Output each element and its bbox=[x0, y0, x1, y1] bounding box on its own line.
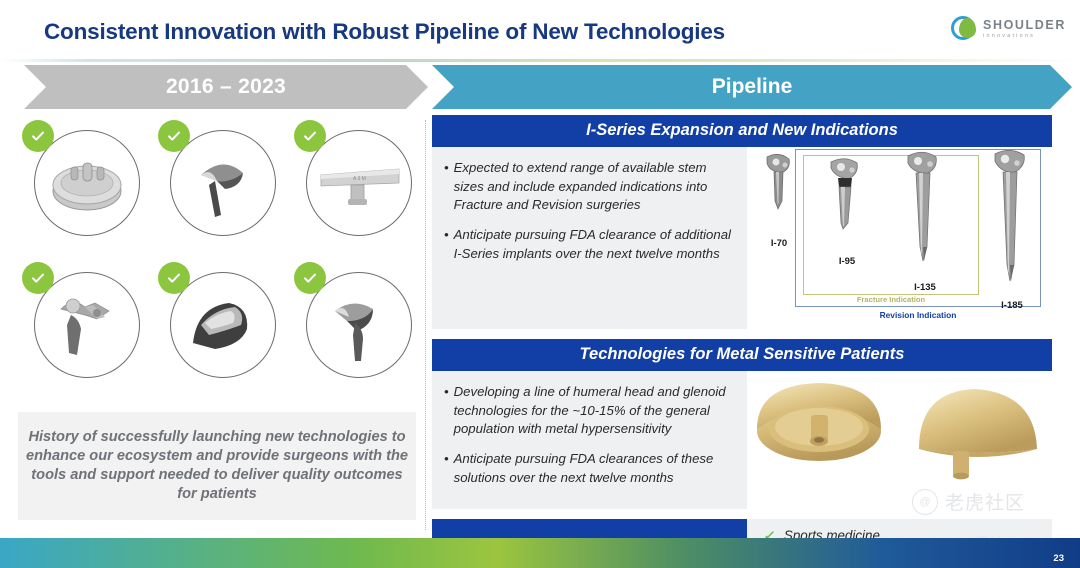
product-item-2 bbox=[158, 120, 282, 256]
header-divider-rule bbox=[0, 59, 1080, 62]
logo-wordmark: SHOULDER innovations bbox=[983, 19, 1066, 39]
implant-i95: I-95 bbox=[821, 157, 873, 267]
metal-sensitive-figure bbox=[747, 371, 1052, 509]
bullet-item: • Anticipate pursuing FDA clearance of a… bbox=[444, 226, 737, 263]
timeline-banner-history: 2016 – 2023 bbox=[24, 65, 428, 109]
i-series-implant-figure: I-70 I-95 bbox=[747, 147, 1052, 329]
check-icon bbox=[158, 120, 190, 152]
humeral-head-implant-icon bbox=[171, 131, 275, 235]
fracture-indication-caption: Fracture Indication bbox=[803, 295, 979, 304]
bullet-dot-icon: • bbox=[444, 450, 449, 487]
bullet-item: • Anticipate pursuing FDA clearances of … bbox=[444, 450, 737, 487]
bullet-dot-icon: • bbox=[444, 383, 449, 439]
check-icon bbox=[294, 120, 326, 152]
check-icon bbox=[294, 262, 326, 294]
svg-text:A 3 M: A 3 M bbox=[353, 176, 366, 182]
section-header-metal-sensitive: Technologies for Metal Sensitive Patient… bbox=[432, 339, 1052, 371]
product-item-5 bbox=[158, 262, 282, 398]
humeral-head-gold-icons bbox=[747, 371, 1047, 481]
check-icon bbox=[22, 120, 54, 152]
implant-stem-group: I-70 I-95 bbox=[747, 147, 1052, 329]
implant-stem-icon bbox=[897, 151, 953, 275]
history-callout-box: History of successfully launching new te… bbox=[18, 412, 416, 520]
check-icon bbox=[22, 262, 54, 294]
stemmed-humeral-implant-icon bbox=[307, 273, 411, 377]
shoulder-innovations-logo-icon bbox=[951, 16, 977, 42]
slide-header: Consistent Innovation with Robust Pipeli… bbox=[0, 0, 1080, 60]
revision-indication-caption: Revision Indication bbox=[795, 310, 1041, 320]
implant-i185: I-185 bbox=[983, 149, 1041, 311]
bullet-text: Anticipate pursuing FDA clearance of add… bbox=[454, 226, 737, 263]
footer-gradient-bar bbox=[0, 538, 1080, 568]
product-item-3: A 3 M bbox=[294, 120, 418, 256]
bullet-item: • Expected to extend range of available … bbox=[444, 159, 737, 215]
logo-tagline: innovations bbox=[983, 34, 1066, 40]
humeral-head-angled-implant-icon bbox=[171, 273, 275, 377]
implant-label: I-135 bbox=[897, 282, 953, 293]
logo-name: SHOULDER bbox=[983, 19, 1066, 32]
implant-stem-icon bbox=[983, 149, 1041, 293]
bullet-text: Anticipate pursuing FDA clearances of th… bbox=[454, 450, 737, 487]
section-body-metal-sensitive: • Developing a line of humeral head and … bbox=[432, 371, 1052, 509]
implant-stem-icon bbox=[821, 157, 873, 249]
logo-leaf-shape bbox=[959, 18, 976, 38]
glenoid-implant-icon bbox=[35, 131, 139, 235]
implant-i135: I-135 bbox=[897, 151, 953, 293]
reverse-shoulder-implant-icon bbox=[35, 273, 139, 377]
product-item-6 bbox=[294, 262, 418, 398]
bullet-dot-icon: • bbox=[444, 159, 449, 215]
page-title: Consistent Innovation with Robust Pipeli… bbox=[44, 19, 725, 45]
implant-label: I-70 bbox=[755, 238, 803, 249]
product-item-1 bbox=[22, 120, 146, 256]
pipeline-panel: I-Series Expansion and New Indications •… bbox=[432, 115, 1052, 568]
i-series-bullet-list: • Expected to extend range of available … bbox=[432, 147, 747, 329]
product-circle-grid: A 3 M bbox=[14, 120, 420, 410]
glenoid-baseplate-implant-icon: A 3 M bbox=[307, 131, 411, 235]
history-panel: A 3 M bbox=[14, 120, 420, 532]
bullet-text: Expected to extend range of available st… bbox=[454, 159, 737, 215]
timeline-banner-pipeline: Pipeline bbox=[432, 65, 1072, 109]
implant-label: I-95 bbox=[821, 256, 873, 267]
metal-sensitive-bullet-list: • Developing a line of humeral head and … bbox=[432, 371, 747, 509]
implant-i70: I-70 bbox=[755, 153, 803, 249]
brand-logo: SHOULDER innovations bbox=[951, 16, 1066, 42]
section-body-i-series: • Expected to extend range of available … bbox=[432, 147, 1052, 329]
page-number: 23 bbox=[1053, 553, 1064, 564]
section-header-i-series: I-Series Expansion and New Indications bbox=[432, 115, 1052, 147]
product-item-4 bbox=[22, 262, 146, 398]
history-callout-text: History of successfully launching new te… bbox=[18, 428, 416, 505]
bullet-dot-icon: • bbox=[444, 226, 449, 263]
bullet-item: • Developing a line of humeral head and … bbox=[444, 383, 737, 439]
panel-divider bbox=[425, 120, 426, 530]
implant-stem-icon bbox=[755, 153, 803, 231]
bullet-text: Developing a line of humeral head and gl… bbox=[454, 383, 737, 439]
slide-canvas: Consistent Innovation with Robust Pipeli… bbox=[0, 0, 1080, 568]
check-icon bbox=[158, 262, 190, 294]
gold-implant-group bbox=[747, 371, 1052, 481]
